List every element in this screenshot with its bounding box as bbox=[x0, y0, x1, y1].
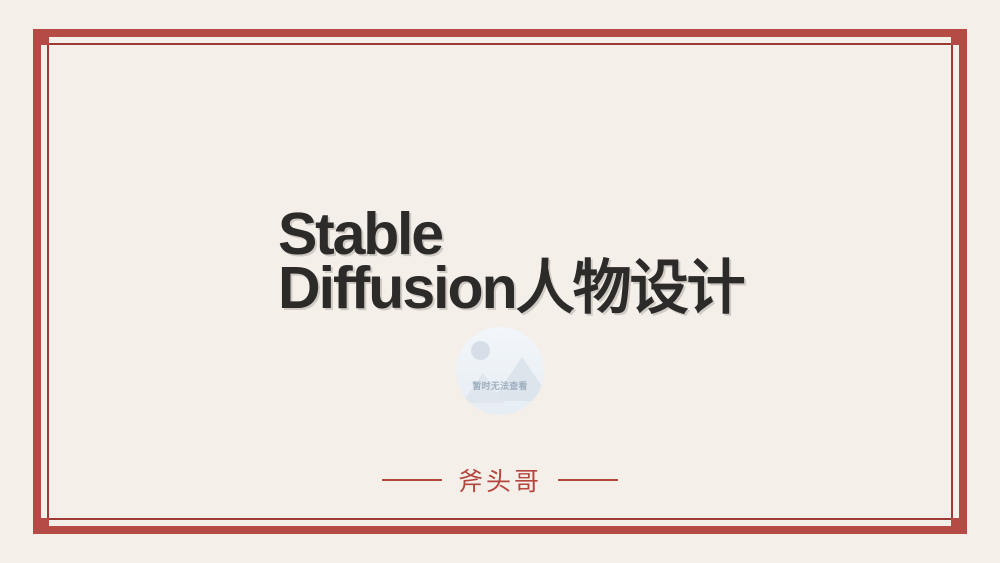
broken-image-placeholder: 暂时无法查看 bbox=[456, 327, 544, 415]
page-title: Stable Diffusion人物设计 bbox=[278, 207, 798, 316]
byline: 斧头哥 bbox=[0, 462, 1000, 498]
placeholder-status-text: 暂时无法查看 bbox=[456, 379, 544, 392]
byline-rule-right bbox=[558, 479, 618, 481]
title-line-1: Stable bbox=[278, 207, 798, 261]
sun-icon bbox=[471, 341, 490, 360]
title-slide: Stable Diffusion人物设计 暂时无法查看 斧头哥 bbox=[0, 0, 1000, 563]
title-line-2: Diffusion人物设计 bbox=[278, 261, 798, 315]
slide-content: Stable Diffusion人物设计 暂时无法查看 斧头哥 bbox=[0, 0, 1000, 563]
byline-rule-left bbox=[382, 479, 442, 481]
author-name: 斧头哥 bbox=[458, 462, 542, 498]
